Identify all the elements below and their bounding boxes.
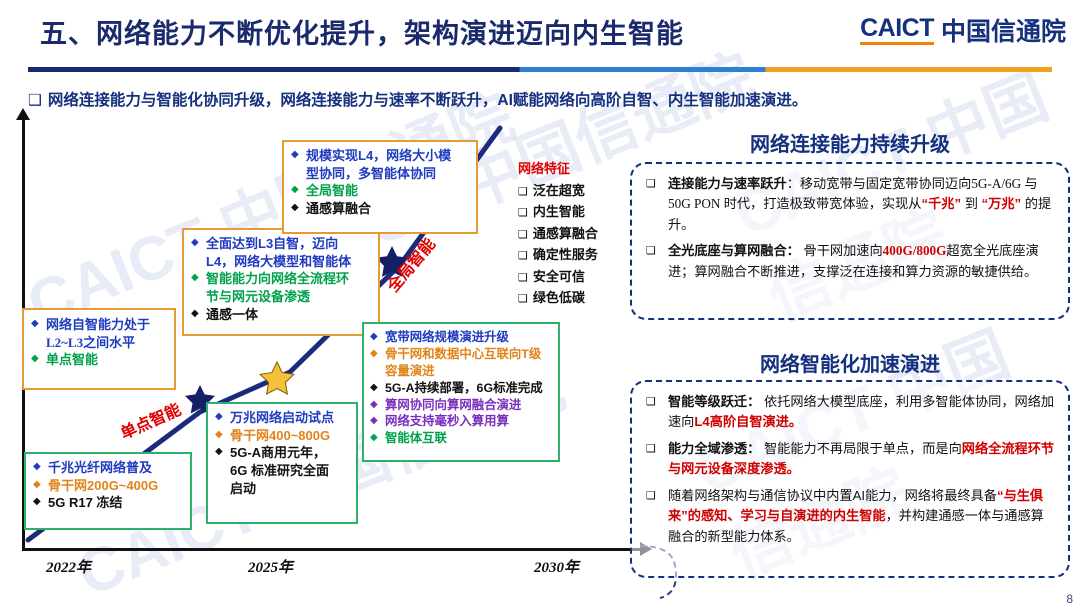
checkbox-icon: ❑ <box>518 292 528 305</box>
diamond-icon: ◆ <box>291 202 299 215</box>
box-2022-capability: ◆网络自智能力处于 L2~L3之间水平 ◆单点智能 <box>22 308 176 390</box>
diamond-icon: ◆ <box>33 479 41 492</box>
list-item: ◆智能体互联 <box>370 431 552 447</box>
list-item: ◆5G-A商用元年， <box>215 445 349 462</box>
right-panel-section1-list: ❑ 连接能力与速率跃升：移动宽带与固定宽带协同迈向5G-A/6G 与 50G P… <box>642 174 1056 282</box>
diamond-icon: ◆ <box>33 461 41 474</box>
item-highlight: L4高阶自智演进。 <box>694 414 802 429</box>
list-item: 6G 标准研究全面 <box>215 463 349 480</box>
list-item: ◆万兆网络启动试点 <box>215 410 349 427</box>
diamond-icon: ◆ <box>215 429 223 442</box>
diamond-icon: ◆ <box>31 353 39 366</box>
diamond-icon: ◆ <box>291 149 299 162</box>
box-2022-network-list: ◆千兆光纤网络普及 ◆骨干网200G~400G ◆5G R17 冻结 <box>33 460 183 512</box>
diamond-icon: ◆ <box>191 272 199 285</box>
box-2025-capability: ◆全面达到L3自智，迈向 L4，网络大模型和智能体 ◆智能能力向网络全流程环 节… <box>182 228 380 336</box>
diamond-icon: ◆ <box>370 348 378 361</box>
list-item: ◆5G R17 冻结 <box>33 495 183 512</box>
box-2030-network-list: ◆宽带网络规模演进升级 ◆骨干网和数据中心互联向T级 容量演进 ◆5G-A持续部… <box>370 330 552 447</box>
list-item: 启动 <box>215 481 349 498</box>
checkbox-icon: ❑ <box>646 487 656 504</box>
item-text: 到 <box>961 196 982 211</box>
diamond-icon: ◆ <box>291 184 299 197</box>
list-item: ◆骨干网200G~400G <box>33 478 183 495</box>
network-features: 网络特征 ❑泛在超宽 ❑内生智能 ❑通感算融合 ❑确定性服务 ❑安全可信 ❑绿色… <box>518 158 598 309</box>
list-item: ◆智能能力向网络全流程环 <box>191 271 371 288</box>
list-item: ◆宽带网络规模演进升级 <box>370 330 552 346</box>
diamond-icon: ◆ <box>370 399 378 412</box>
checkbox-icon: ❑ <box>646 440 656 457</box>
list-item: ◆骨干网400~800G <box>215 428 349 445</box>
slide: CAICT 中国信通院 CAICT 中国信通院 CAICT 中国信通院 CAIC… <box>0 0 1080 608</box>
box-2025-network-list: ◆万兆网络启动试点 ◆骨干网400~800G ◆5G-A商用元年， 6G 标准研… <box>215 410 349 497</box>
network-features-list: ❑泛在超宽 ❑内生智能 ❑通感算融合 ❑确定性服务 ❑安全可信 ❑绿色低碳 <box>518 180 598 307</box>
item-highlight: “千兆” <box>922 196 962 211</box>
list-item: ❑内生智能 <box>518 201 598 220</box>
list-item: ❑ 连接能力与速率跃升：移动宽带与固定宽带协同迈向5G-A/6G 与 50G P… <box>642 174 1056 235</box>
list-item: ❑ 全光底座与算网融合： 骨干网加速向400G/800G超宽全光底座演进；算网融… <box>642 241 1056 282</box>
list-item: ◆全面达到L3自智，迈向 <box>191 236 371 253</box>
list-item: ◆规模实现L4，网络大小模 <box>291 148 469 165</box>
diamond-icon: ◆ <box>370 432 378 445</box>
box-2030-capability: ◆规模实现L4，网络大小模 型协同，多智能体协同 ◆全局智能 ◆通感算融合 <box>282 140 478 234</box>
box-2030-capability-list: ◆规模实现L4，网络大小模 型协同，多智能体协同 ◆全局智能 ◆通感算融合 <box>291 148 469 218</box>
right-panel-section2-list: ❑ 智能等级跃迁： 依托网络大模型底座，利用多智能体协同，网络加速向L4高阶自智… <box>642 392 1056 547</box>
list-item: ◆全局智能 <box>291 183 469 200</box>
list-item: ◆千兆光纤网络普及 <box>33 460 183 477</box>
list-item: ◆骨干网和数据中心互联向T级 <box>370 347 552 363</box>
network-features-title: 网络特征 <box>518 158 598 177</box>
item-highlight: “万兆” <box>982 196 1022 211</box>
list-item: ❑ 随着网络架构与通信协议中内置AI能力，网络将最终具备“与生俱来”的感知、学习… <box>642 486 1056 547</box>
checkbox-icon: ❑ <box>646 242 656 259</box>
item-emphasis: 连接能力与速率跃升 <box>668 176 787 191</box>
right-panel-section2-title: 网络智能化加速演进 <box>620 348 1080 377</box>
list-item: ❑ 智能等级跃迁： 依托网络大模型底座，利用多智能体协同，网络加速向L4高阶自智… <box>642 392 1056 433</box>
list-item: ◆单点智能 <box>31 352 167 369</box>
item-emphasis: 全光底座与算网融合： <box>668 243 800 258</box>
box-2022-network: ◆千兆光纤网络普及 ◆骨干网200G~400G ◆5G R17 冻结 <box>24 452 192 530</box>
list-item: ❑绿色低碳 <box>518 287 598 306</box>
list-item: ❑泛在超宽 <box>518 180 598 199</box>
checkbox-icon: ❑ <box>518 249 528 262</box>
item-text: 智能能力不再局限于单点，而是向 <box>760 441 961 456</box>
list-item: ❑通感算融合 <box>518 223 598 242</box>
box-2030-network: ◆宽带网络规模演进升级 ◆骨干网和数据中心互联向T级 容量演进 ◆5G-A持续部… <box>362 322 560 462</box>
list-item: L4，网络大模型和智能体 <box>191 254 371 271</box>
right-panel-section1-box: ❑ 连接能力与速率跃升：移动宽带与固定宽带协同迈向5G-A/6G 与 50G P… <box>630 162 1070 320</box>
item-text: ：移动宽带与固定宽带协同迈向 <box>787 176 972 191</box>
diamond-icon: ◆ <box>370 331 378 344</box>
diamond-icon: ◆ <box>191 308 199 321</box>
list-item: ◆算网协同向算网融合演进 <box>370 398 552 414</box>
diamond-icon: ◆ <box>215 446 223 459</box>
diamond-icon: ◆ <box>31 318 39 331</box>
box-2025-capability-list: ◆全面达到L3自智，迈向 L4，网络大模型和智能体 ◆智能能力向网络全流程环 节… <box>191 236 371 323</box>
checkbox-icon: ❑ <box>518 271 528 284</box>
diamond-icon: ◆ <box>215 411 223 424</box>
list-item: ◆网络自智能力处于 <box>31 317 167 334</box>
list-item: ❑确定性服务 <box>518 244 598 263</box>
right-panel-section2-box: ❑ 智能等级跃迁： 依托网络大模型底座，利用多智能体协同，网络加速向L4高阶自智… <box>630 380 1070 578</box>
item-text: 骨干网加速向 <box>800 243 883 258</box>
list-item: 型协同，多智能体协同 <box>291 166 469 183</box>
list-item: ❑ 能力全域渗透： 智能能力不再局限于单点，而是向网络全流程环节与网元设备深度渗… <box>642 439 1056 480</box>
list-item: 节与网元设备渗透 <box>191 289 371 306</box>
right-panel-section1-title: 网络连接能力持续升级 <box>620 128 1080 157</box>
list-item: L2~L3之间水平 <box>31 335 167 352</box>
list-item: ◆网络支持毫秒入算用算 <box>370 414 552 430</box>
diamond-icon: ◆ <box>370 415 378 428</box>
list-item: ◆5G-A持续部署，6G标准完成 <box>370 381 552 397</box>
diamond-icon: ◆ <box>370 382 378 395</box>
checkbox-icon: ❑ <box>518 185 528 198</box>
item-text: 随着网络架构与通信协议中内置AI能力，网络将最终具备 <box>668 488 997 503</box>
item-emphasis: 智能等级跃迁： <box>668 394 760 409</box>
box-2025-network: ◆万兆网络启动试点 ◆骨干网400~800G ◆5G-A商用元年， 6G 标准研… <box>206 402 358 524</box>
item-emphasis: 能力全域渗透： <box>668 441 760 456</box>
list-item: 容量演进 <box>370 364 552 380</box>
diamond-icon: ◆ <box>33 496 41 509</box>
checkbox-icon: ❑ <box>646 393 656 410</box>
checkbox-icon: ❑ <box>518 206 528 219</box>
list-item: ◆通感一体 <box>191 307 371 324</box>
item-text: 时代，打造极致带宽体验，实现从 <box>724 196 922 211</box>
diamond-icon: ◆ <box>191 237 199 250</box>
list-item: ❑安全可信 <box>518 266 598 285</box>
list-item: ◆通感算融合 <box>291 201 469 218</box>
item-highlight: 400G/800G <box>883 243 947 258</box>
page-number: 8 <box>1066 592 1073 606</box>
checkbox-icon: ❑ <box>518 228 528 241</box>
checkbox-icon: ❑ <box>646 175 656 192</box>
box-2022-capability-list: ◆网络自智能力处于 L2~L3之间水平 ◆单点智能 <box>31 317 167 369</box>
